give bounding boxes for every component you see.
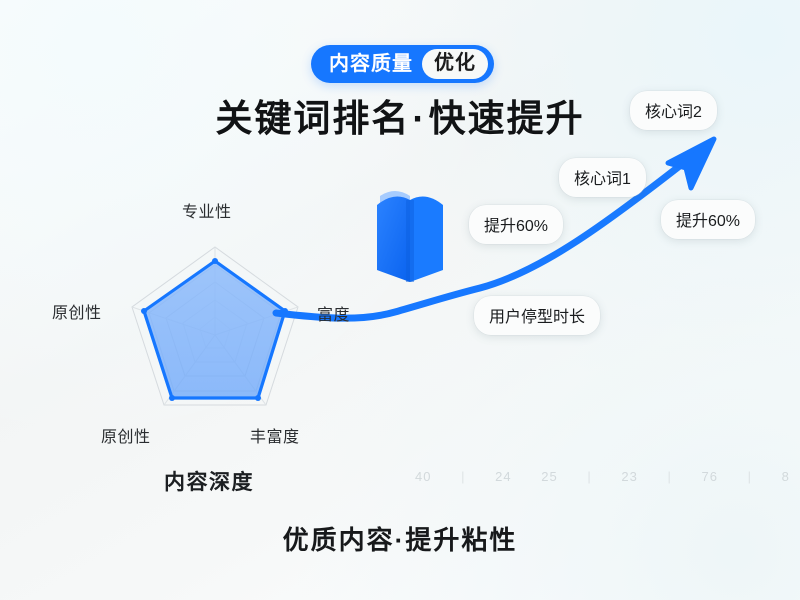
ruler-item: | bbox=[461, 469, 465, 484]
radar-label-professional: 专业性 bbox=[182, 198, 232, 222]
footer-tagline: 优质内容·提升粘性 bbox=[0, 520, 800, 557]
content-depth-caption: 内容深度 bbox=[164, 466, 254, 496]
pill-keyword-1[interactable]: 核心词1 bbox=[559, 158, 646, 197]
ruler-item: | bbox=[748, 469, 752, 484]
ruler-item: 40 bbox=[415, 469, 431, 484]
ruler-item: 23 bbox=[621, 469, 637, 484]
ruler-item: 76 bbox=[702, 469, 718, 484]
page-title-separator: · bbox=[412, 98, 426, 139]
pill-dwell-time[interactable]: 用户停型时长 bbox=[474, 296, 600, 335]
radar-label-originality-bottom: 原创性 bbox=[101, 423, 151, 447]
ruler-item: 8 bbox=[782, 469, 790, 484]
pill-keyword-2[interactable]: 核心词2 bbox=[630, 91, 717, 130]
faint-ruler: 40 | 24 25 | 23 | 76 | 8 bbox=[415, 466, 790, 486]
page-title-right: 快速提升 bbox=[429, 98, 585, 139]
pill-increase-left[interactable]: 提升60% bbox=[469, 205, 563, 244]
ruler-item: 24 bbox=[495, 469, 511, 484]
badge-main-label: 内容质量 bbox=[329, 54, 422, 74]
pill-increase-right[interactable]: 提升60% bbox=[661, 200, 755, 239]
ruler-item: | bbox=[587, 469, 591, 484]
page-title-left: 关键词排名 bbox=[215, 98, 410, 139]
status-badge[interactable]: 内容质量 优化 bbox=[311, 45, 494, 83]
ruler-item: | bbox=[668, 469, 672, 484]
poster-canvas: 内容质量 优化 关键词排名·快速提升 专业性 富度 丰富度 原创性 原创性 核心… bbox=[0, 0, 800, 600]
radar-label-originality-left: 原创性 bbox=[52, 299, 102, 323]
badge-sub-label: 优化 bbox=[422, 49, 488, 79]
radar-label-abundance: 丰富度 bbox=[250, 423, 300, 447]
radar-label-richness: 富度 bbox=[317, 301, 350, 325]
ruler-item: 25 bbox=[541, 469, 557, 484]
